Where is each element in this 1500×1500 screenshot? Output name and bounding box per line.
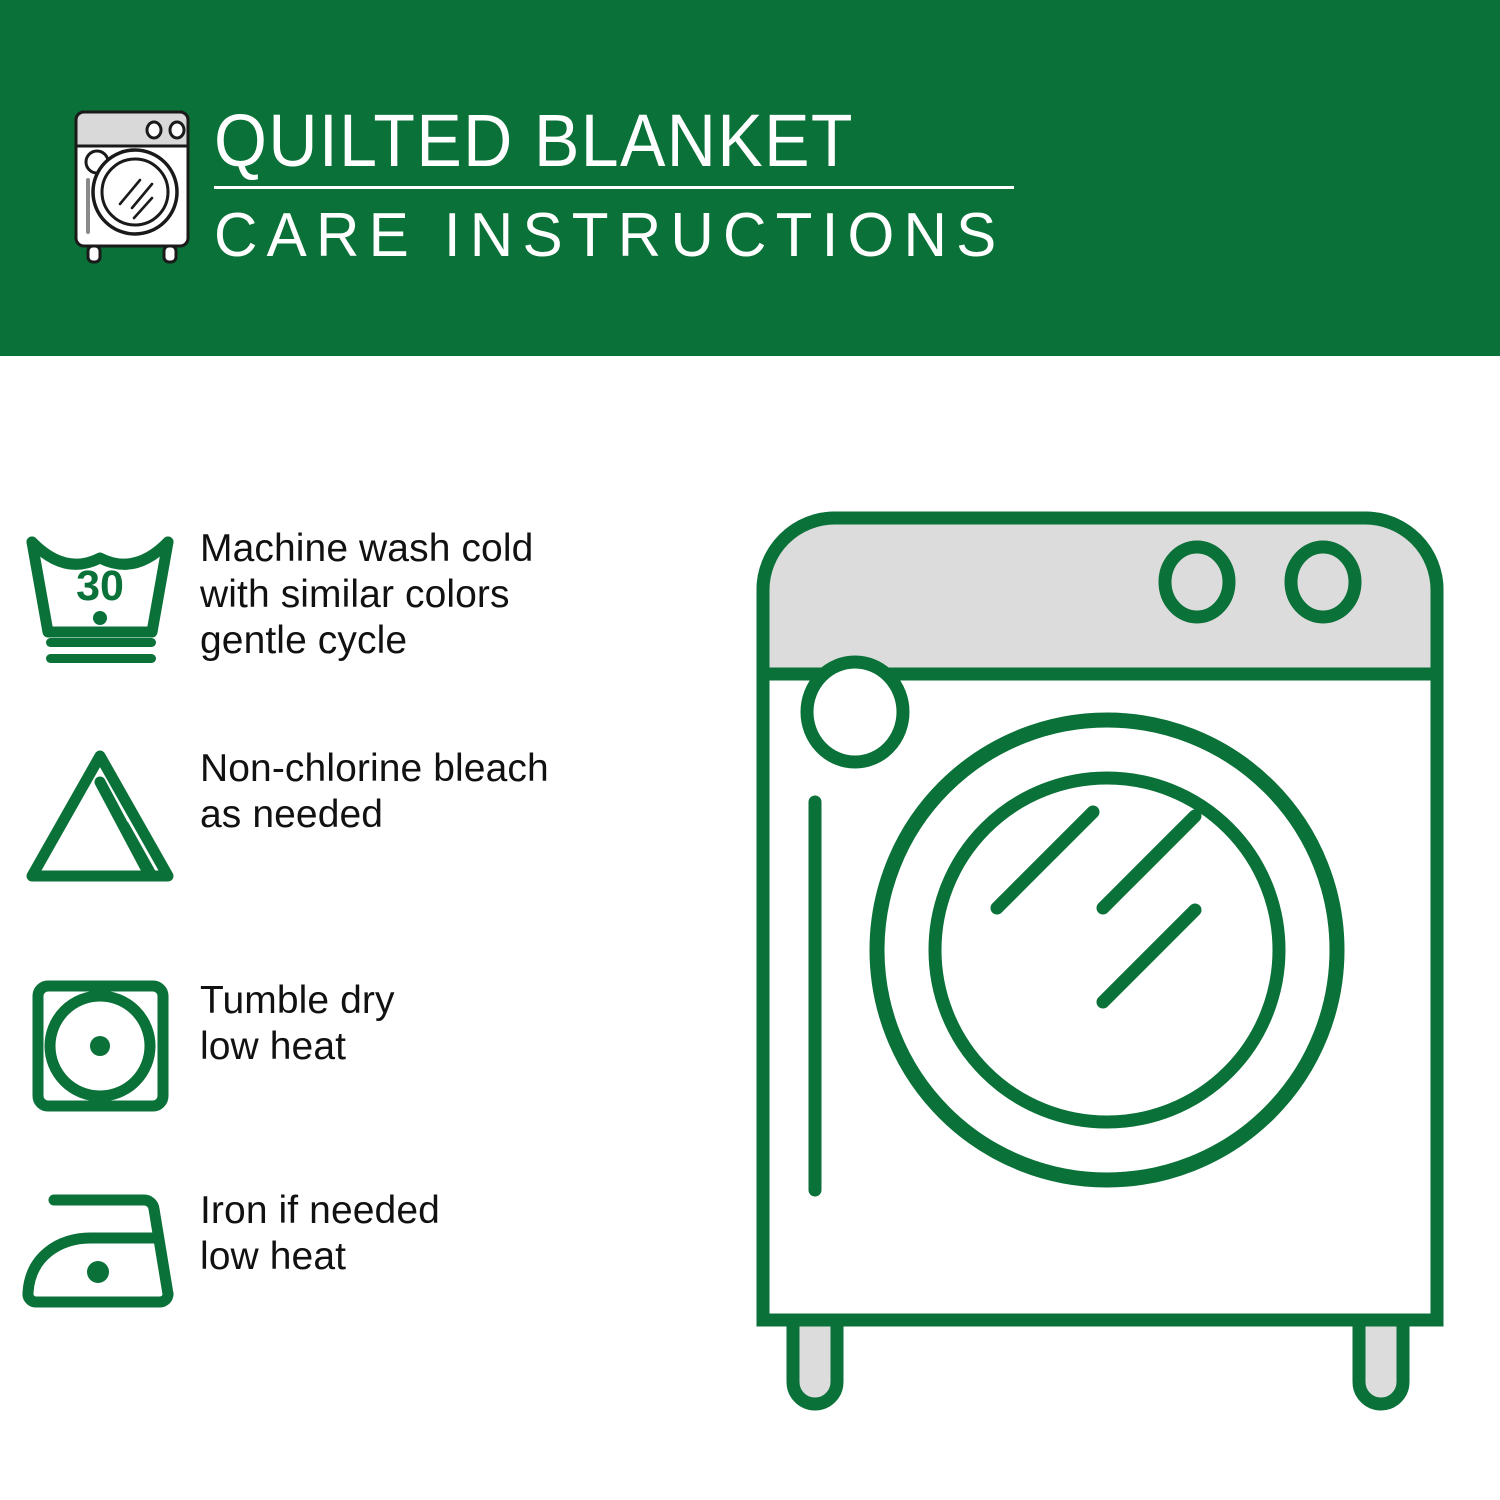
header-text-block: QUILTED BLANKET CARE INSTRUCTIONS (214, 102, 1024, 269)
washing-machine-illustration (745, 490, 1455, 1430)
care-text-line: Non-chlorine bleach (200, 746, 549, 792)
washing-machine-icon (62, 104, 202, 264)
page-subtitle: CARE INSTRUCTIONS (214, 203, 1000, 269)
iron-icon (0, 1182, 200, 1311)
care-item-label: Iron if needed low heat (200, 1182, 440, 1280)
care-text-line: low heat (200, 1234, 440, 1280)
care-text-line: low heat (200, 1024, 395, 1070)
care-item-tumble-dry: Tumble dry low heat (0, 972, 720, 1116)
wash-tub-30-icon: 30 (0, 520, 200, 664)
care-text-line: Tumble dry (200, 978, 395, 1024)
header-banner: QUILTED BLANKET CARE INSTRUCTIONS (0, 0, 1500, 356)
care-text-line: gentle cycle (200, 618, 533, 664)
care-text-line: Machine wash cold (200, 526, 533, 572)
care-text-line: as needed (200, 792, 549, 838)
care-item-machine-wash: 30 Machine wash cold with similar colors… (0, 520, 720, 664)
care-item-label: Tumble dry low heat (200, 972, 395, 1070)
care-item-label: Machine wash cold with similar colors ge… (200, 520, 533, 664)
care-text-line: with similar colors (200, 572, 533, 618)
care-text-line: Iron if needed (200, 1188, 440, 1234)
bleach-triangle-icon (0, 740, 200, 889)
tumble-dry-icon (0, 972, 200, 1116)
wash-temperature-label: 30 (76, 562, 124, 610)
page-title: QUILTED BLANKET (214, 102, 959, 180)
care-item-bleach: Non-chlorine bleach as needed (0, 740, 720, 889)
care-item-iron: Iron if needed low heat (0, 1182, 720, 1311)
care-item-label: Non-chlorine bleach as needed (200, 740, 549, 838)
title-divider (214, 186, 1014, 189)
